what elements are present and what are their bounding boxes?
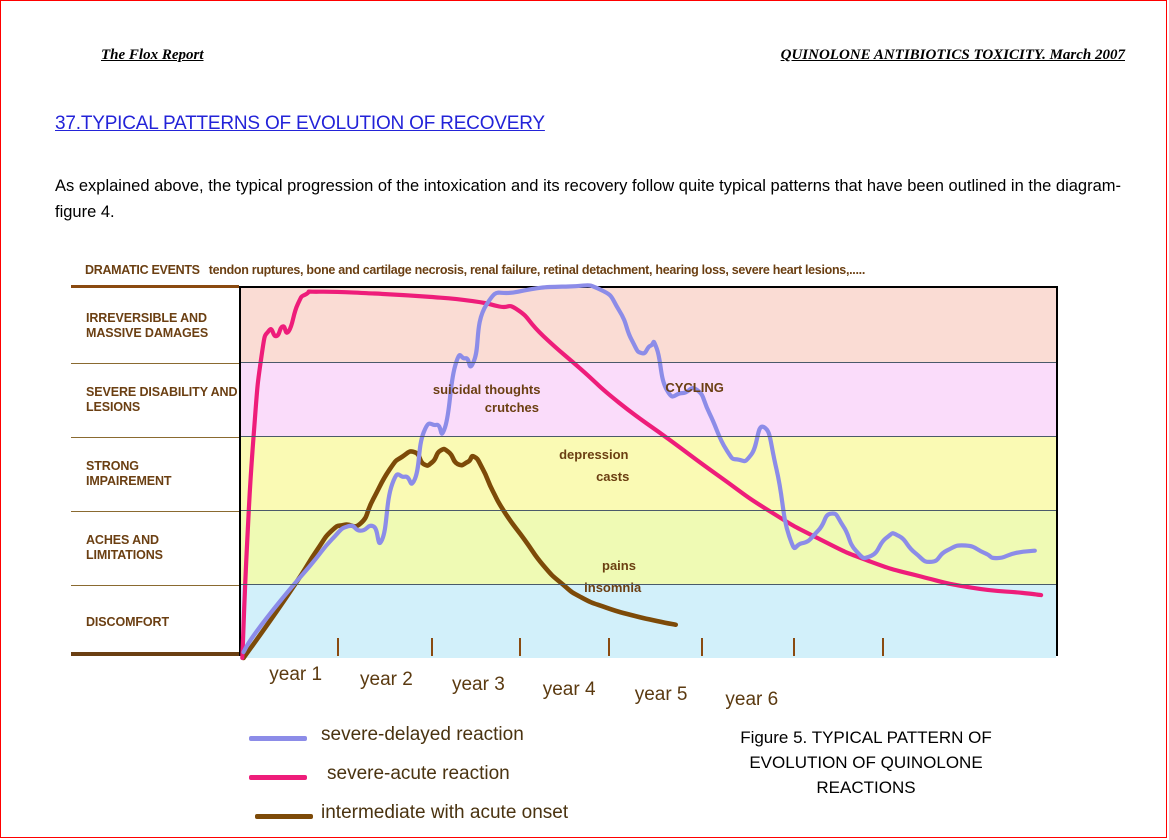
severity-label-row: ACHES ANDLIMITATIONS — [71, 511, 239, 585]
legend-color-swatch — [255, 814, 313, 819]
x-axis-label-2: year 2 — [360, 669, 413, 691]
chart-annotation: casts — [596, 469, 629, 484]
header-right-title: QUINOLONE ANTIBIOTICS TOXICITY. March 20… — [781, 47, 1125, 64]
header-left-title: The Flox Report — [101, 47, 204, 64]
figure-caption: Figure 5. TYPICAL PATTERN OF EVOLUTION O… — [701, 725, 1031, 800]
severity-label-row: STRONGIMPAIREMENT — [71, 437, 239, 511]
x-axis-label-1: year 1 — [269, 664, 322, 686]
legend-label: intermediate with acute onset — [321, 802, 568, 824]
legend-label: severe-delayed reaction — [321, 724, 524, 746]
band-divider — [241, 436, 1056, 437]
dramatic-events-annotation: DRAMATIC EVENTStendon ruptures, bone and… — [85, 263, 865, 277]
x-axis-tick — [701, 638, 703, 656]
severity-label-divider — [71, 511, 239, 512]
x-axis: year 1year 2year 3year 4year 5year 6 — [239, 656, 1058, 716]
severity-label-row: DISCOMFORT — [71, 585, 239, 659]
severity-label-text: DISCOMFORT — [71, 615, 169, 630]
legend-color-swatch — [249, 775, 307, 780]
severity-label-row: IRREVERSIBLE ANDMASSIVE DAMAGES — [71, 289, 239, 363]
severity-label-divider — [71, 363, 239, 364]
band-divider — [241, 584, 1056, 585]
figure-5: DRAMATIC EVENTStendon ruptures, bone and… — [1, 253, 1168, 839]
x-axis-tick — [519, 638, 521, 656]
chart-annotation: CYCLING — [665, 380, 724, 395]
x-axis-tick — [793, 638, 795, 656]
x-axis-tick — [337, 638, 339, 656]
x-axis-label-5: year 5 — [635, 684, 688, 706]
series-line-severe-acute-reaction — [242, 292, 1041, 658]
x-axis-label-4: year 4 — [543, 679, 596, 701]
legend-color-swatch — [249, 736, 307, 741]
x-axis-tick — [608, 638, 610, 656]
document-page: The Flox Report QUINOLONE ANTIBIOTICS TO… — [0, 0, 1167, 838]
severity-label-text: IRREVERSIBLE ANDMASSIVE DAMAGES — [71, 311, 208, 341]
severity-label-text: SEVERE DISABILITY ANDLESIONS — [71, 385, 237, 415]
chart-legend: severe-delayed reactionsevere-acute reac… — [249, 721, 669, 838]
x-axis-tick — [882, 638, 884, 656]
chart-annotation: insomnia — [584, 580, 641, 595]
series-line-severe-delayed-reaction — [244, 285, 1035, 652]
severity-label-text: ACHES ANDLIMITATIONS — [71, 533, 163, 563]
severity-label-divider — [71, 585, 239, 586]
chart-annotation: suicidal thoughts — [433, 382, 541, 397]
section-title: 37.TYPICAL PATTERNS OF EVOLUTION OF RECO… — [55, 113, 545, 135]
x-axis-tick — [431, 638, 433, 656]
chart-plot-area: suicidal thoughtscrutchesCYCLINGdepressi… — [239, 286, 1058, 656]
x-axis-label-3: year 3 — [452, 674, 505, 696]
band-divider — [241, 510, 1056, 511]
severity-label-row: SEVERE DISABILITY ANDLESIONS — [71, 363, 239, 437]
x-axis-label-6: year 6 — [725, 689, 778, 711]
body-paragraph: As explained above, the typical progress… — [55, 173, 1121, 225]
legend-item: severe-acute reaction — [249, 760, 669, 799]
chart-annotation: depression — [559, 447, 628, 462]
chart-annotation: crutches — [485, 400, 539, 415]
legend-item: severe-delayed reaction — [249, 721, 669, 760]
band-divider — [241, 362, 1056, 363]
chart-annotation: pains — [602, 558, 636, 573]
severity-label-column: IRREVERSIBLE ANDMASSIVE DAMAGESSEVERE DI… — [71, 285, 239, 656]
dramatic-events-text: tendon ruptures, bone and cartilage necr… — [209, 263, 865, 277]
legend-item: intermediate with acute onset — [249, 799, 669, 838]
severity-label-divider — [71, 437, 239, 438]
legend-label: severe-acute reaction — [327, 763, 510, 785]
dramatic-events-heading: DRAMATIC EVENTS — [85, 263, 200, 277]
severity-label-text: STRONGIMPAIREMENT — [71, 459, 171, 489]
chart-curves — [239, 276, 1058, 658]
